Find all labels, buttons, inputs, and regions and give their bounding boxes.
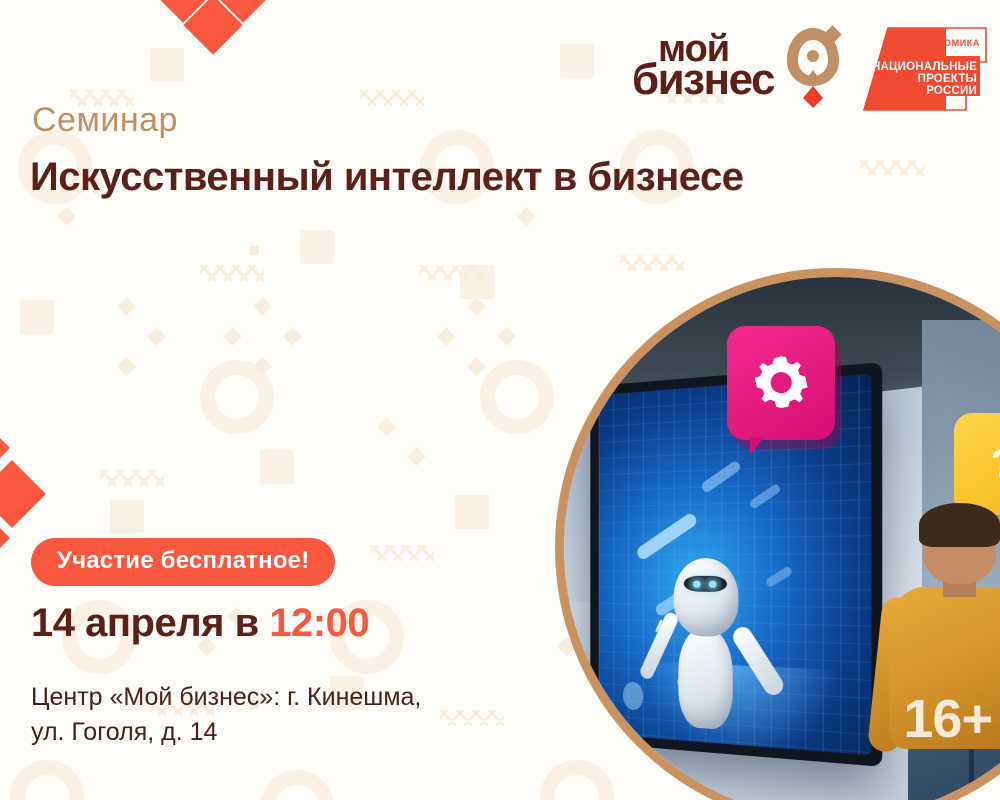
poster-canvas: мой бизнес ЭКОНОМИКА НАЦИОНАЛЬНЫЕ <box>0 0 1000 800</box>
rocket-pin-icon <box>782 24 844 108</box>
robot-head <box>673 557 738 636</box>
free-participation-badge: Участие бесплатное! <box>31 538 335 586</box>
event-datetime: 14 апреля в 12:00 <box>31 601 369 646</box>
gear-icon <box>753 353 809 412</box>
kicker-seminar: Семинар <box>32 101 178 140</box>
logo-zone: мой бизнес ЭКОНОМИКА НАЦИОНАЛЬНЫЕ <box>632 24 990 120</box>
robot-eye-left <box>693 580 700 588</box>
age-rating-badge: 16+ <box>903 688 992 750</box>
diamond-cluster-top <box>160 0 278 58</box>
venue-line-1: Центр «Мой бизнес»: г. Кинешма, <box>31 680 421 715</box>
np-line-3: РОССИИ <box>926 85 977 97</box>
page-title: Искусственный интеллект в бизнесе <box>30 155 743 200</box>
speech-bubble-gear <box>727 326 835 440</box>
robot-eye-right <box>709 580 717 588</box>
my-business-wordmark: мой бизнес <box>632 34 774 97</box>
np-line-1: НАЦИОНАЛЬНЫЕ <box>872 61 977 73</box>
event-time: 12:00 <box>269 601 369 645</box>
robot-character <box>663 557 748 738</box>
my-business-logo: мой бизнес <box>632 24 844 108</box>
np-line-top: ЭКОНОМИКА <box>916 38 980 48</box>
question-mark-icon: ? <box>991 444 1000 484</box>
venue-line-2: ул. Гоголя, д. 14 <box>31 715 421 750</box>
robot-visor <box>683 576 727 592</box>
venue-address: Центр «Мой бизнес»: г. Кинешма, ул. Гого… <box>31 680 421 749</box>
my-business-word-bottom: бизнес <box>632 62 774 98</box>
robot-body <box>678 628 732 730</box>
event-date: 14 апреля <box>31 601 224 645</box>
national-projects-logo: ЭКОНОМИКА НАЦИОНАЛЬНЫЕ ПРОЕКТЫ РОССИИ <box>862 24 990 120</box>
person-leg-split <box>969 745 975 800</box>
person-viewer <box>878 510 1000 800</box>
speech-bubble-question: ? <box>954 413 1000 516</box>
np-line-2: ПРОЕКТЫ <box>918 73 977 85</box>
event-time-prefix: в <box>224 601 269 645</box>
person-hair <box>919 503 1000 547</box>
